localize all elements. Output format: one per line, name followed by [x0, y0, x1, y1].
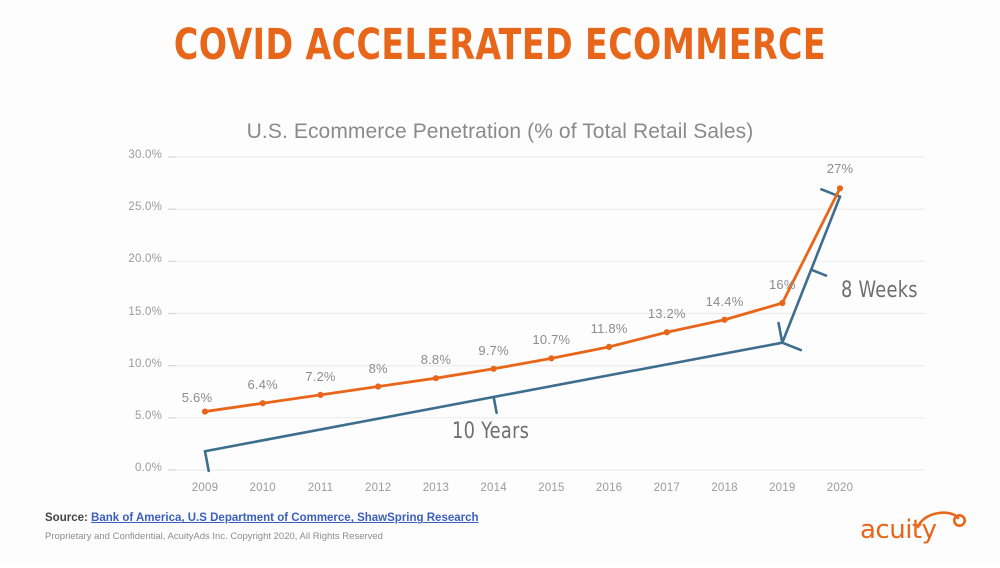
x-axis-tick-label: 2012 — [348, 482, 408, 494]
y-axis-tick-label: 10.0% — [110, 358, 162, 370]
x-axis-tick-label: 2011 — [290, 482, 350, 494]
data-point-marker — [721, 317, 727, 323]
eight-weeks-bracket-label: 8 Weeks — [841, 278, 918, 303]
acuity-logo: acuity — [860, 505, 972, 547]
legal-notice: Proprietary and Confidential, AcuityAds … — [45, 530, 479, 545]
data-point-marker — [375, 383, 381, 389]
y-axis-tick-label: 0.0% — [110, 462, 162, 474]
source-line: Source: Bank of America, U.S Department … — [45, 510, 479, 528]
y-axis-tick-label: 15.0% — [110, 306, 162, 318]
ten-years-bracket-label: 10 Years — [452, 419, 529, 444]
data-point-marker — [837, 185, 843, 191]
eight-weeks-bracket — [782, 189, 840, 350]
data-point-marker — [317, 392, 323, 398]
x-axis-tick-label: 2019 — [752, 482, 812, 494]
x-axis-tick-label: 2014 — [464, 482, 524, 494]
line-chart: 30.0%25.0%20.0%15.0%10.0%5.0%0.0%2009201… — [0, 0, 1000, 563]
data-point-marker — [664, 329, 670, 335]
slide-canvas: COVID ACCELERATED ECOMMERCE U.S. Ecommer… — [0, 0, 1000, 563]
data-point-label: 8.8% — [406, 352, 466, 367]
data-point-label: 8% — [348, 361, 408, 376]
x-axis-tick-label: 2015 — [521, 482, 581, 494]
source-prefix-label: Source: — [45, 512, 88, 524]
data-point-label: 13.2% — [637, 306, 697, 321]
y-axis-tick-label: 5.0% — [110, 410, 162, 422]
x-axis-tick-label: 2010 — [233, 482, 293, 494]
data-point-label: 10.7% — [521, 332, 581, 347]
x-axis-tick-label: 2009 — [175, 482, 235, 494]
y-axis-tick-label: 30.0% — [110, 149, 162, 161]
data-point-marker — [491, 366, 497, 372]
footer: Source: Bank of America, U.S Department … — [45, 510, 479, 545]
x-axis-tick-label: 2020 — [810, 482, 870, 494]
x-axis-tick-label: 2017 — [637, 482, 697, 494]
data-point-label: 6.4% — [233, 377, 293, 392]
y-axis-tick-label: 20.0% — [110, 253, 162, 265]
data-point-marker — [548, 355, 554, 361]
data-point-marker — [202, 408, 208, 414]
x-axis-tick-label: 2016 — [579, 482, 639, 494]
data-point-label: 9.7% — [464, 343, 524, 358]
data-point-marker — [779, 300, 785, 306]
x-axis-tick-label: 2018 — [695, 482, 755, 494]
data-point-marker — [260, 400, 266, 406]
data-point-marker — [433, 375, 439, 381]
logo-wordmark: acuity — [860, 515, 937, 545]
data-point-label: 27% — [810, 161, 870, 176]
data-point-label: 5.6% — [167, 390, 227, 405]
data-point-marker — [606, 344, 612, 350]
data-point-label: 16% — [752, 277, 812, 292]
data-point-label: 11.8% — [579, 321, 639, 336]
x-axis-tick-label: 2013 — [406, 482, 466, 494]
source-link[interactable]: Bank of America, U.S Department of Comme… — [91, 512, 479, 524]
y-axis-tick-label: 25.0% — [110, 201, 162, 213]
data-point-label: 14.4% — [695, 294, 755, 309]
data-point-label: 7.2% — [290, 369, 350, 384]
